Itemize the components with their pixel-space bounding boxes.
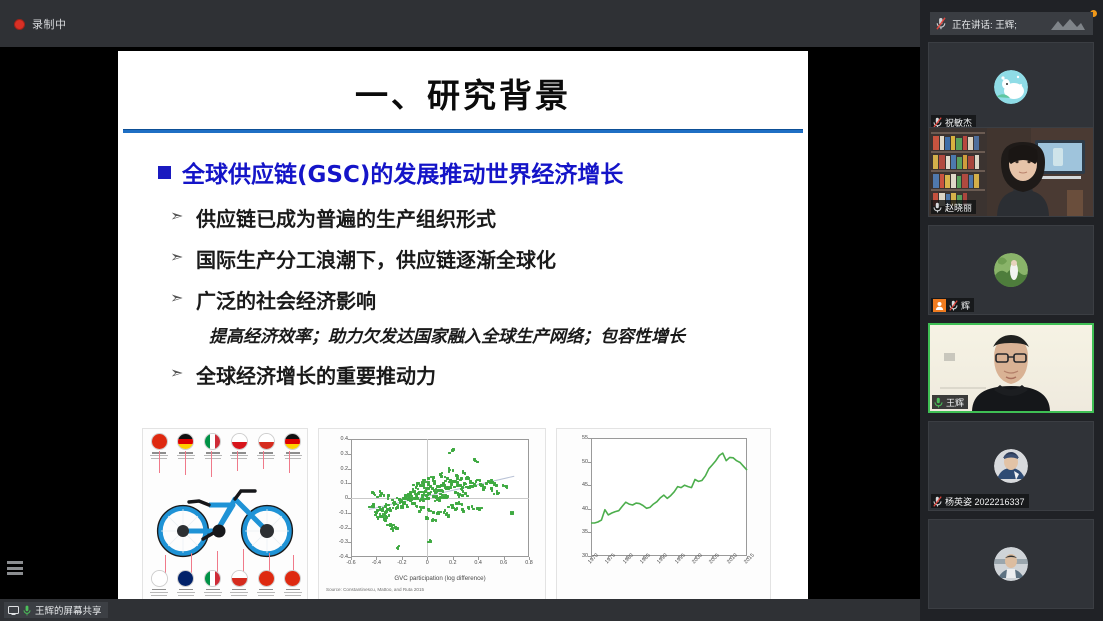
scatter-point — [451, 480, 454, 483]
arrow-bullet-icon: ➣ — [170, 203, 184, 229]
list-item: ➣ 广泛的社会经济影响 — [170, 285, 808, 314]
scatter-point — [502, 484, 505, 487]
scatter-point — [422, 500, 425, 503]
scatter-point — [479, 479, 482, 482]
flag-caption — [254, 589, 278, 596]
x-axis-tick — [376, 557, 377, 560]
bicycle-illustration — [143, 469, 308, 561]
presentation-slide: 一、研究背景 全球供应链(GSC)的发展推动世界经济增长 ➣ 供应链已成为普遍的… — [118, 51, 808, 599]
flag-caption — [201, 452, 225, 459]
x-axis-tick-label: 0.2 — [446, 560, 460, 566]
scatter-point — [461, 503, 464, 506]
active-speaker-banner: 正在讲话: 王辉; — [930, 12, 1093, 35]
flag-cell — [201, 433, 225, 459]
x-axis-tick — [427, 557, 428, 560]
x-axis-tick-label: 0.6 — [497, 560, 511, 566]
participant-name: 王辉 — [946, 396, 964, 409]
scatter-point — [411, 502, 414, 505]
list-item: ➣ 全球经济增长的重要推动力 — [170, 360, 808, 389]
x-axis-tick — [504, 557, 505, 560]
scatter-point — [481, 484, 484, 487]
scatter-point — [451, 506, 454, 509]
recording-bar: 录制中 — [0, 0, 920, 47]
y-axis-tick — [348, 513, 351, 514]
line-series — [557, 429, 771, 599]
scatter-point — [433, 482, 436, 485]
x-axis-tick-label: -0.2 — [395, 560, 409, 566]
scatter-point — [448, 470, 451, 473]
scatter-point — [510, 511, 513, 514]
scatter-point — [480, 507, 483, 510]
scatter-point — [372, 505, 375, 508]
y-axis-tick-label: -0.3 — [330, 539, 348, 545]
y-axis-tick — [348, 542, 351, 543]
scatter-point — [374, 514, 377, 517]
avatar — [994, 449, 1028, 483]
participant-tile[interactable]: 赵晓丽 — [928, 127, 1094, 217]
avatar — [994, 253, 1028, 287]
scatter-point — [450, 483, 453, 486]
flag-cell — [201, 570, 225, 596]
scatter-point — [455, 502, 458, 505]
scatter-point — [383, 494, 386, 497]
arrow-bullet-icon: ➣ — [170, 244, 184, 270]
y-axis-tick-label: -0.2 — [330, 525, 348, 531]
mic-muted-icon — [933, 496, 942, 507]
participant-rail[interactable]: 正在讲话: 王辉; 祝敏杰 — [920, 0, 1103, 621]
monitor-icon — [8, 606, 19, 615]
flag-cell — [227, 570, 251, 596]
figure-gvc-productivity-scatter: Labour productivity (log difference) -0.… — [318, 428, 546, 599]
y-axis-tick-label: 0 — [330, 495, 348, 501]
scatter-point — [452, 469, 455, 472]
participant-name-badge: 王辉 — [932, 395, 968, 409]
list-item: ➣ 供应链已成为普遍的生产组织形式 — [170, 203, 808, 232]
x-axis-tick — [478, 557, 479, 560]
participant-name: 辉 — [961, 299, 970, 312]
x-axis-tick-label: -0.6 — [344, 560, 358, 566]
flag-icon — [258, 570, 275, 587]
scatter-point — [472, 508, 475, 511]
slide-title: 一、研究背景 — [118, 51, 808, 117]
scatter-point — [396, 506, 399, 509]
x-axis-tick — [402, 557, 403, 560]
participant-tile-active-speaker[interactable]: 王辉 — [928, 323, 1094, 413]
bullet-subnote: 提高经济效率；助力欠发达国家融入全球生产网络；包容性增长 — [209, 322, 808, 347]
participant-name-badge: 辉 — [931, 298, 974, 312]
scatter-point — [427, 497, 430, 500]
flag-icon — [177, 570, 194, 587]
scatter-point — [430, 491, 433, 494]
y-axis-tick-label: 0.1 — [330, 480, 348, 486]
arrow-bullet-icon: ➣ — [170, 285, 184, 311]
bullet-text: 广泛的社会经济影响 — [196, 285, 376, 314]
scatter-point — [466, 495, 469, 498]
participant-tile[interactable] — [928, 519, 1094, 609]
scatter-point — [429, 539, 432, 542]
scatter-point — [437, 511, 440, 514]
scatter-point — [432, 511, 435, 514]
figure-row: Labour productivity (log difference) -0.… — [142, 428, 787, 599]
slide-heading-text: 全球供应链(GSC)的发展推动世界经济增长 — [182, 155, 623, 189]
mic-muted-icon — [949, 300, 958, 311]
scatter-point — [425, 518, 428, 521]
scatter-point — [374, 511, 377, 514]
mic-muted-icon — [933, 117, 942, 128]
mic-on-icon — [934, 397, 943, 408]
flag-caption — [201, 589, 225, 596]
participant-tile[interactable]: 祝敏杰 — [928, 42, 1094, 132]
shared-screen-stage[interactable]: 一、研究背景 全球供应链(GSC)的发展推动世界经济增长 ➣ 供应链已成为普遍的… — [0, 47, 920, 599]
scatter-point — [452, 448, 455, 451]
active-speaker-label: 正在讲话: 王辉; — [952, 17, 1017, 31]
flag-icon — [231, 433, 248, 450]
flag-cell — [254, 433, 278, 459]
flag-icon — [258, 433, 275, 450]
audio-wave-icon — [1051, 18, 1085, 30]
scatter-point — [497, 492, 500, 495]
screen-share-indicator: 王辉的屏幕共享 — [4, 602, 108, 618]
scatter-point — [456, 481, 459, 484]
scatter-point — [448, 452, 451, 455]
x-axis-tick — [529, 557, 530, 560]
scatter-point — [391, 499, 394, 502]
participant-name-badge: 赵晓丽 — [931, 200, 976, 214]
y-axis-tick-label: -0.4 — [330, 554, 348, 560]
scatter-point — [454, 508, 457, 511]
scatter-point — [427, 492, 430, 495]
scatter-point — [461, 494, 464, 497]
scatter-point — [446, 512, 449, 515]
scatter-point — [385, 511, 388, 514]
mic-on-icon — [23, 605, 31, 616]
scatter-point — [456, 477, 459, 480]
flag-icon — [204, 570, 221, 587]
flag-caption — [227, 589, 251, 596]
bullet-text: 供应链已成为普遍的生产组织形式 — [196, 203, 496, 232]
recording-indicator: 录制中 — [14, 16, 67, 32]
scatter-point — [416, 484, 419, 487]
scatter-point — [446, 486, 449, 489]
flag-icon — [284, 433, 301, 450]
flag-caption — [174, 589, 198, 596]
bullet-list: ➣ 供应链已成为普遍的生产组织形式 ➣ 国际生产分工浪潮下，供应链逐渐全球化 ➣… — [170, 203, 808, 389]
flag-caption — [254, 452, 278, 459]
scatter-point — [444, 496, 447, 499]
scatter-point — [397, 546, 400, 549]
scatter-point — [485, 482, 488, 485]
flag-caption — [281, 452, 305, 459]
flag-cell — [281, 570, 305, 596]
scatter-point — [461, 508, 464, 511]
x-axis-tick-label: 0.4 — [471, 560, 485, 566]
scatter-point — [477, 507, 480, 510]
scatter-source-note: Source: Constantinescu, Mattoo, and Ruta… — [326, 587, 424, 592]
x-axis-tick-label: 0.8 — [522, 560, 536, 566]
y-axis-tick — [348, 439, 351, 440]
bullet-text: 国际生产分工浪潮下，供应链逐渐全球化 — [196, 244, 556, 273]
record-dot-icon — [14, 19, 25, 30]
scatter-point — [433, 480, 436, 483]
x-axis-tick-label: 0 — [420, 560, 434, 566]
scatter-point — [458, 495, 461, 498]
avatar — [994, 70, 1028, 104]
figure-gvc-share-line: GVC share of global trade (%) 5550454035… — [556, 428, 771, 599]
scatter-point — [431, 519, 434, 522]
scatter-point — [505, 485, 508, 488]
flag-icon — [151, 433, 168, 450]
scatter-point — [437, 489, 440, 492]
scatter-point — [424, 498, 427, 501]
y-axis-tick — [348, 528, 351, 529]
avatar — [994, 547, 1028, 581]
y-axis-tick — [348, 483, 351, 484]
flag-icon — [151, 570, 168, 587]
y-axis-tick — [348, 454, 351, 455]
flag-cell — [254, 570, 278, 596]
arrow-bullet-icon: ➣ — [170, 360, 184, 386]
slide-heading: 全球供应链(GSC)的发展推动世界经济增长 — [158, 155, 808, 189]
figure-bicycle-supply-chain — [142, 428, 308, 599]
scatter-point — [415, 496, 418, 499]
scatter-point — [379, 490, 382, 493]
scatter-point — [462, 510, 465, 513]
flag-icon — [204, 433, 221, 450]
flag-caption — [147, 589, 171, 596]
flag-cell — [174, 570, 198, 596]
scatter-point — [463, 482, 466, 485]
square-bullet-icon — [158, 166, 171, 179]
scatter-point — [394, 503, 397, 506]
host-icon — [933, 299, 946, 312]
scatter-point — [447, 515, 450, 518]
bicycle-svg — [143, 469, 308, 561]
y-axis-tick — [348, 557, 351, 558]
x-axis-tick — [453, 557, 454, 560]
scatter-point — [458, 503, 461, 506]
scatter-point — [460, 484, 463, 487]
scatter-point — [464, 472, 467, 475]
scatter-point — [471, 485, 474, 488]
scatter-point — [490, 487, 493, 490]
list-menu-icon[interactable] — [7, 561, 23, 575]
flag-icon — [284, 570, 301, 587]
y-axis-tick — [348, 469, 351, 470]
scatter-point — [432, 487, 435, 490]
scatter-point — [387, 494, 390, 497]
scatter-point — [469, 480, 472, 483]
scatter-point — [442, 490, 445, 493]
participant-name-badge: 杨英姿 2022216337 — [931, 494, 1029, 508]
scatter-point — [421, 496, 424, 499]
scatter-point — [406, 506, 409, 509]
scatter-point — [422, 506, 425, 509]
participant-name: 赵晓丽 — [945, 201, 972, 214]
flag-caption — [227, 452, 251, 459]
flag-row-top — [147, 433, 305, 459]
share-status-bar: 王辉的屏幕共享 — [0, 599, 920, 621]
scatter-point — [419, 499, 422, 502]
scatter-point — [449, 486, 452, 489]
list-item: ➣ 国际生产分工浪潮下，供应链逐渐全球化 — [170, 244, 808, 273]
flag-caption — [281, 589, 305, 596]
scatter-point — [435, 519, 438, 522]
scatter-point — [467, 506, 470, 509]
scatter-point — [460, 477, 463, 480]
x-axis-tick-label: -0.4 — [369, 560, 383, 566]
title-divider — [123, 129, 803, 133]
scatter-point — [392, 529, 395, 532]
flag-cell — [227, 433, 251, 459]
scatter-point — [389, 507, 392, 510]
scatter-point — [421, 481, 424, 484]
y-axis-tick-label: 0.4 — [330, 436, 348, 442]
bullet-text: 全球经济增长的重要推动力 — [196, 360, 436, 389]
scatter-xlabel: GVC participation (log difference) — [351, 575, 529, 582]
y-axis-tick-label: 0.2 — [330, 466, 348, 472]
participant-name: 杨英姿 2022216337 — [945, 495, 1025, 508]
scatter-point — [432, 476, 435, 479]
participant-tile[interactable]: 杨英姿 2022216337 — [928, 421, 1094, 511]
scatter-point — [447, 506, 450, 509]
scatter-point — [377, 517, 380, 520]
mic-muted-icon — [933, 202, 942, 213]
scatter-point — [494, 482, 497, 485]
scatter-point — [392, 524, 395, 527]
flag-row-bottom — [147, 570, 305, 596]
flag-cell — [281, 433, 305, 459]
scatter-point — [422, 484, 425, 487]
participant-tile[interactable]: 辉 — [928, 225, 1094, 315]
x-axis-tick — [351, 557, 352, 560]
scatter-point — [482, 488, 485, 491]
flag-icon — [231, 570, 248, 587]
screen-share-label: 王辉的屏幕共享 — [35, 603, 102, 617]
y-axis-tick-label: 0.3 — [330, 451, 348, 457]
scatter-point — [427, 477, 430, 480]
scatter-point — [476, 479, 479, 482]
scatter-point — [409, 493, 412, 496]
scatter-point — [379, 494, 382, 497]
mic-muted-icon — [936, 17, 946, 30]
recording-label: 录制中 — [32, 16, 67, 32]
scatter-point — [373, 492, 376, 495]
scatter-point — [453, 486, 456, 489]
flag-icon — [177, 433, 194, 450]
flag-cell — [147, 570, 171, 596]
scatter-point — [418, 510, 421, 513]
y-axis-tick-label: -0.1 — [330, 510, 348, 516]
